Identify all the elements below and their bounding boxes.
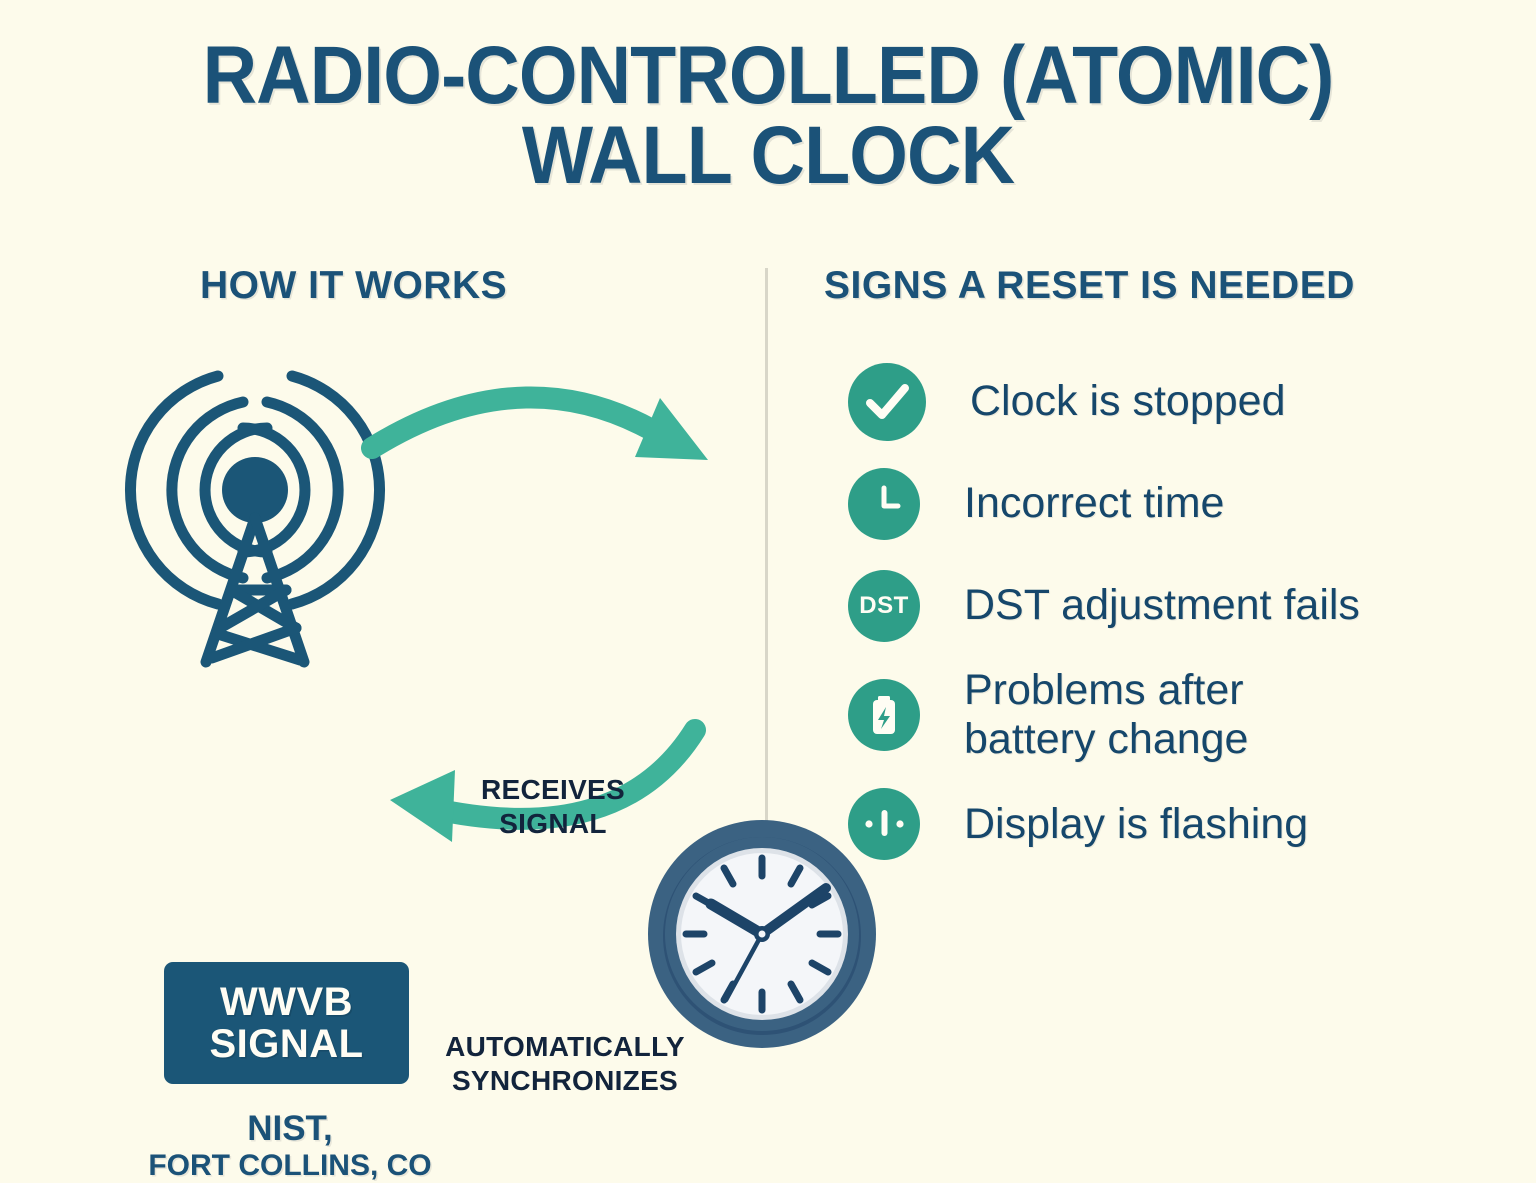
nist-caption-line-1: NIST, <box>120 1110 460 1149</box>
page-title: RADIO-CONTROLLED (ATOMIC) WALL CLOCK <box>61 36 1474 197</box>
section-heading-how-it-works: HOW IT WORKS <box>200 264 507 308</box>
list-item[interactable]: Incorrect time <box>848 462 1468 546</box>
receives-signal-label: RECEIVES SIGNAL <box>448 773 658 840</box>
section-heading-signs-reset: SIGNS A RESET IS NEEDED <box>824 264 1355 308</box>
receives-signal-arrow <box>372 397 708 460</box>
list-item-label: Incorrect time <box>964 479 1224 528</box>
check-circle-icon <box>848 363 926 441</box>
wwvb-label-line-1: WWVB <box>220 981 353 1023</box>
title-line-2: WALL CLOCK <box>61 116 1474 196</box>
title-line-1: RADIO-CONTROLLED (ATOMIC) <box>203 30 1334 121</box>
list-item[interactable]: DST DST adjustment fails <box>848 564 1468 648</box>
signs-reset-panel: Clock is stopped Incorrect time DST DST … <box>848 360 1468 884</box>
dst-badge-text: DST <box>859 592 909 620</box>
dst-badge-icon: DST <box>848 570 920 642</box>
list-item-label: Clock is stopped <box>970 377 1286 426</box>
list-item[interactable]: Display is flashing <box>848 782 1468 866</box>
how-it-works-panel: WWVB SIGNAL NIST, FORT COLLINS, CO RECEI… <box>60 330 760 930</box>
list-item-label: Display is flashing <box>964 800 1308 849</box>
list-item[interactable]: Problems after battery change <box>848 666 1468 764</box>
flashing-display-icon <box>848 788 920 860</box>
nist-caption: NIST, FORT COLLINS, CO <box>120 1110 460 1183</box>
analog-wall-clock-icon <box>646 818 878 1050</box>
clock-icon <box>848 468 920 540</box>
broadcast-tower-icon <box>100 340 410 670</box>
list-item-label: Problems after battery change <box>964 666 1248 764</box>
wwvb-label-line-2: SIGNAL <box>209 1023 363 1065</box>
infographic-canvas: RADIO-CONTROLLED (ATOMIC) WALL CLOCK HOW… <box>0 0 1536 1024</box>
wwvb-signal-box: WWVB SIGNAL <box>164 962 409 1084</box>
battery-bolt-icon <box>848 679 920 751</box>
nist-caption-line-2: FORT COLLINS, CO <box>120 1149 460 1183</box>
list-item[interactable]: Clock is stopped <box>848 360 1468 444</box>
list-item-label: DST adjustment fails <box>964 581 1360 630</box>
